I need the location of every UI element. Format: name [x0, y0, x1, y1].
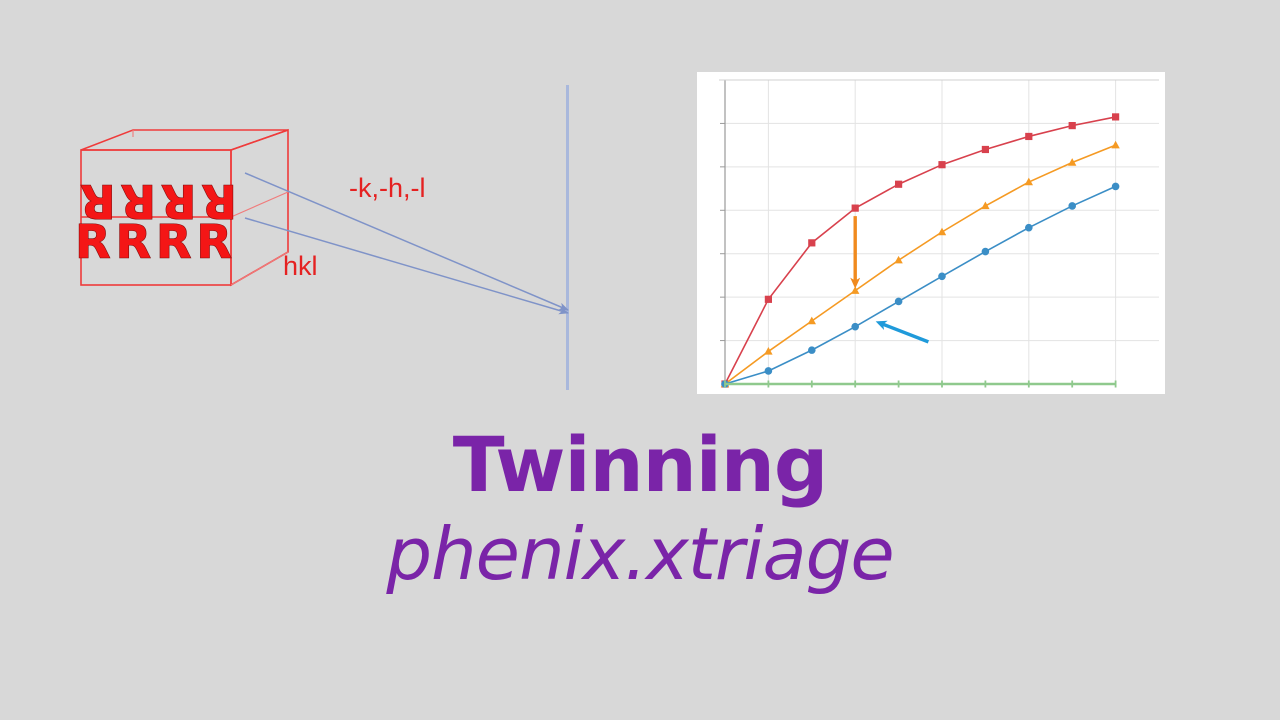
- title-block: Twinning phenix.xtriage: [0, 425, 1280, 594]
- chart-marker-circle: [982, 248, 990, 256]
- chart-series-green-flat: [725, 381, 1116, 388]
- intensity-statistics-chart[interactable]: [697, 72, 1165, 394]
- chart-marker-circle: [938, 272, 946, 280]
- chart-series-blue-circles: [721, 183, 1119, 388]
- chart-series-line: [725, 186, 1116, 384]
- chart-series-layer: [721, 113, 1120, 387]
- chart-marker-triangle: [808, 317, 816, 325]
- rrrr-upright-text: RRRR: [75, 215, 237, 269]
- chart-marker-triangle: [764, 347, 772, 355]
- chart-marker-square: [895, 181, 902, 188]
- twin-operator-arrows: [220, 160, 590, 330]
- page-subtitle: phenix.xtriage: [0, 515, 1280, 594]
- chart-marker-triangle: [894, 256, 902, 264]
- chart-series-line: [725, 117, 1116, 384]
- chart-series-red-squares: [721, 113, 1119, 387]
- chart-marker-circle: [1068, 202, 1076, 210]
- arrow-from-upright-layer: [245, 218, 568, 313]
- chart-marker-square: [852, 205, 859, 212]
- chart-marker-square: [938, 161, 945, 168]
- chart-annotation-blue-pointer-arrow: [879, 323, 928, 342]
- chart-svg: [697, 72, 1165, 394]
- chart-marker-triangle: [1111, 141, 1119, 149]
- chart-marker-square: [808, 239, 815, 246]
- chart-marker-circle: [851, 323, 859, 331]
- chart-marker-triangle: [981, 202, 989, 210]
- chart-marker-circle: [808, 346, 816, 354]
- chart-marker-square: [1025, 133, 1032, 140]
- chart-marker-circle: [1025, 224, 1033, 232]
- chart-marker-circle: [765, 367, 773, 375]
- chart-axes: [719, 80, 1159, 384]
- arrow-from-inverted-layer: [245, 173, 568, 310]
- slide-canvas: RRRR RRRR -k,-h,-l hkl: [0, 0, 1280, 720]
- chart-marker-circle: [895, 298, 903, 306]
- chart-marker-triangle: [851, 286, 859, 294]
- chart-series-orange-triangles: [721, 141, 1120, 387]
- chart-annotations-layer: [855, 216, 928, 342]
- chart-marker-circle: [1112, 183, 1120, 191]
- page-title: Twinning: [0, 425, 1280, 505]
- chart-marker-square: [1112, 113, 1119, 120]
- mirror-arrows-svg: [220, 160, 590, 330]
- box-top-face: [81, 130, 288, 150]
- chart-marker-square: [765, 296, 772, 303]
- chart-marker-triangle: [938, 228, 946, 236]
- chart-marker-square: [1069, 122, 1076, 129]
- chart-series-line: [725, 145, 1116, 384]
- chart-marker-square: [982, 146, 989, 153]
